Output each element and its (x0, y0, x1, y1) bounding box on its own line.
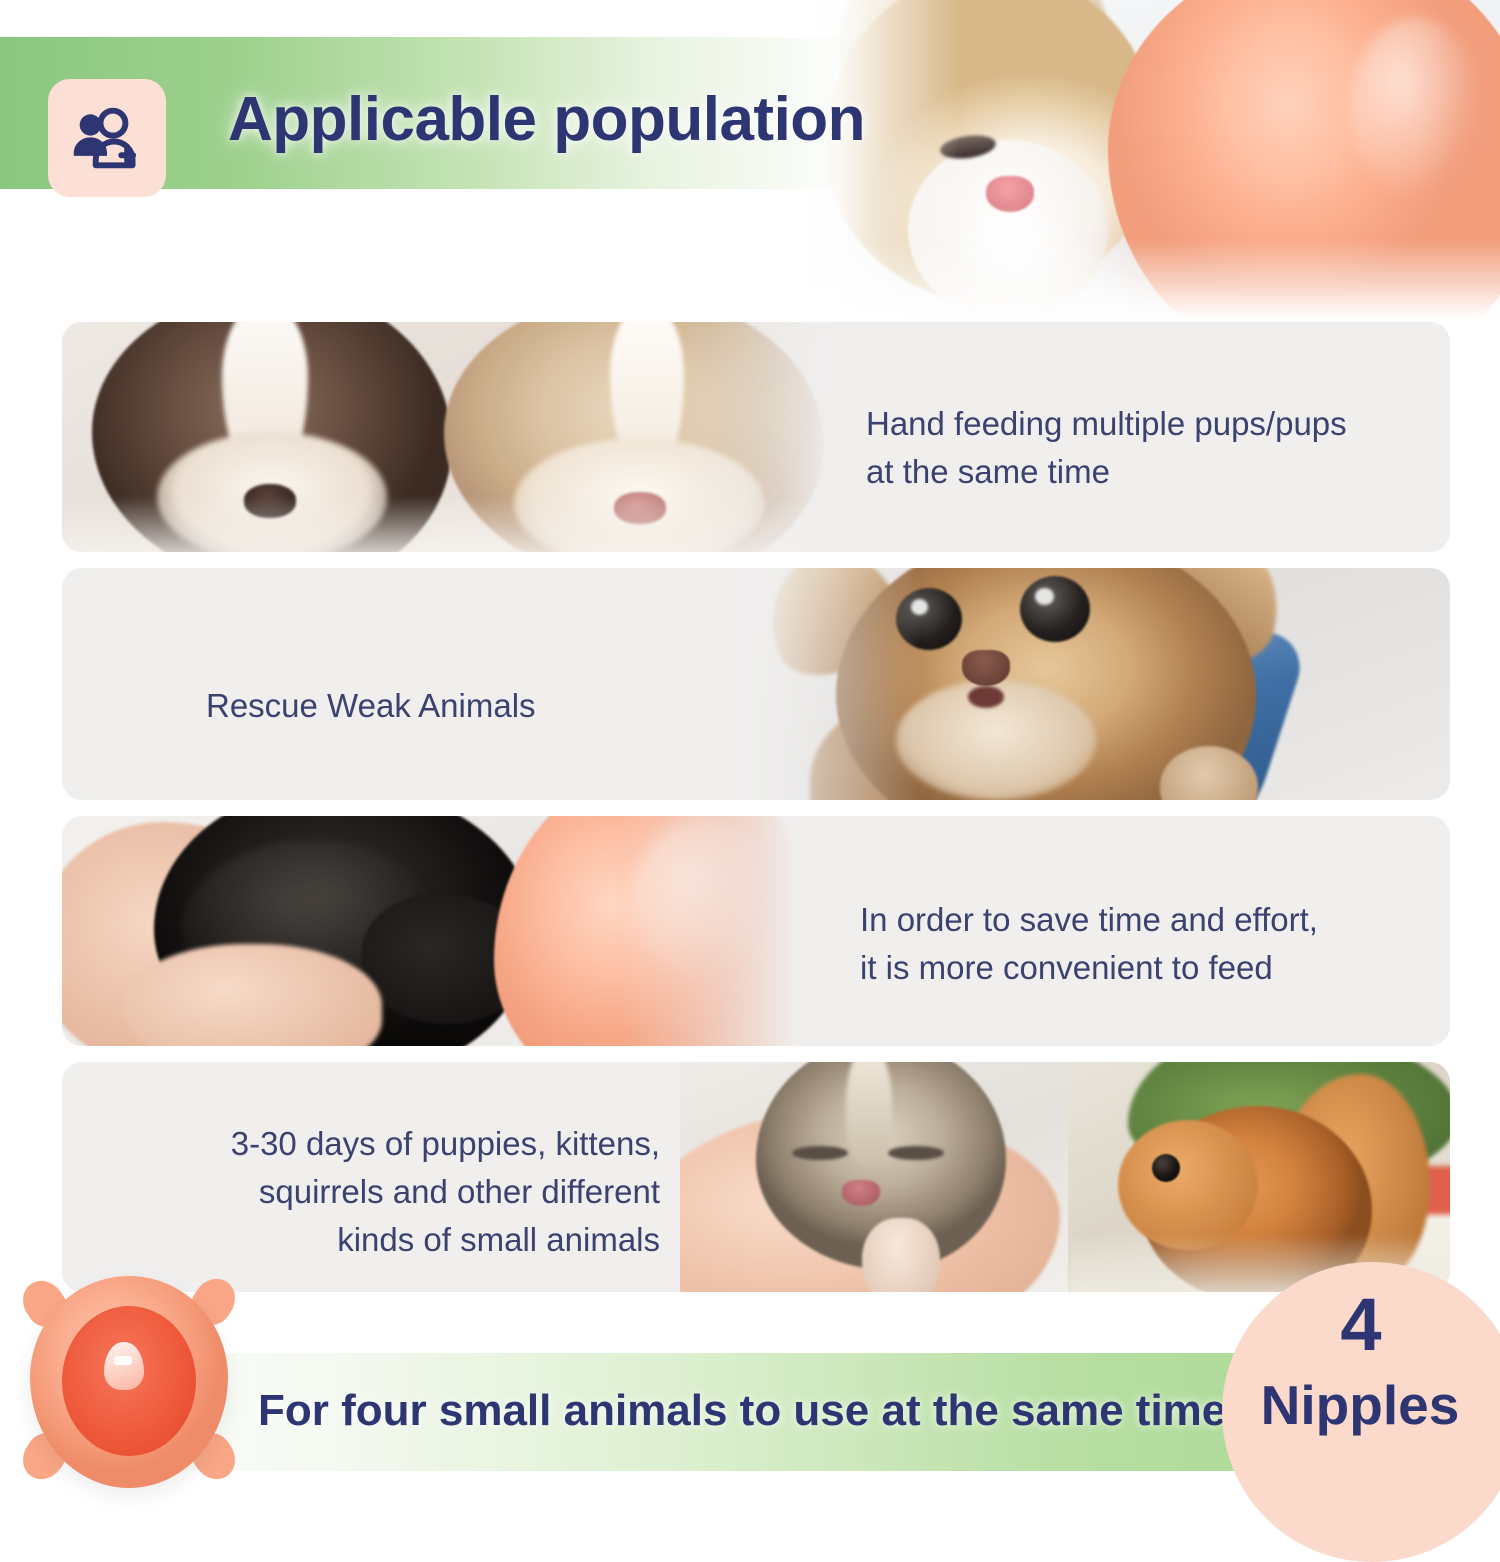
product-nipple-highlight (114, 1356, 132, 1365)
newborn-kitten-nose (842, 1180, 880, 1206)
squirrel-head (1118, 1120, 1258, 1250)
row-4-image-newborn-kitten (680, 1062, 1070, 1292)
kitten-eye-right (1020, 576, 1090, 642)
row-1-image-sleeping-puppies (62, 322, 882, 552)
row-3-caption: In order to save time and effort, it is … (860, 896, 1380, 992)
row-2-image-tabby-kitten (690, 568, 1450, 800)
newborn-kitten-stripe (846, 1062, 892, 1164)
hero-image-kitten-bottle (790, 0, 1500, 320)
row-1-caption: Hand feeding multiple pups/pups at the s… (866, 400, 1426, 496)
row-1-fade-right (672, 322, 882, 552)
row-4-image-squirrel (1068, 1062, 1450, 1292)
hero-bottle-highlight (1350, 18, 1480, 198)
product-nipple (104, 1342, 144, 1390)
nipples-badge-label: Nipples (1210, 1378, 1500, 1433)
row-2-caption: Rescue Weak Animals (206, 682, 726, 730)
kitten-nose (962, 650, 1010, 686)
squirrel-eye (1152, 1154, 1180, 1182)
newborn-kitten-eye-right (888, 1146, 944, 1160)
hero-fade-bottom (790, 240, 1500, 320)
row-4-caption: 3-30 days of puppies, kittens, squirrels… (190, 1120, 660, 1264)
kitten-mouth (968, 686, 1004, 708)
product-image-nipple-feeder (10, 1262, 250, 1500)
row-3-image-poodle-feeding (62, 816, 842, 1046)
footer-caption: For four small animals to use at the sam… (258, 1386, 1226, 1436)
add-user-group-icon (48, 79, 166, 197)
hero-kitten-nose (986, 176, 1034, 212)
newborn-kitten-paw (862, 1218, 940, 1292)
row-3-fade-right (622, 816, 842, 1046)
newborn-kitten-eye-left (792, 1146, 848, 1160)
page-title: Applicable population (228, 84, 865, 155)
nipples-badge-count: 4 (1222, 1288, 1500, 1362)
